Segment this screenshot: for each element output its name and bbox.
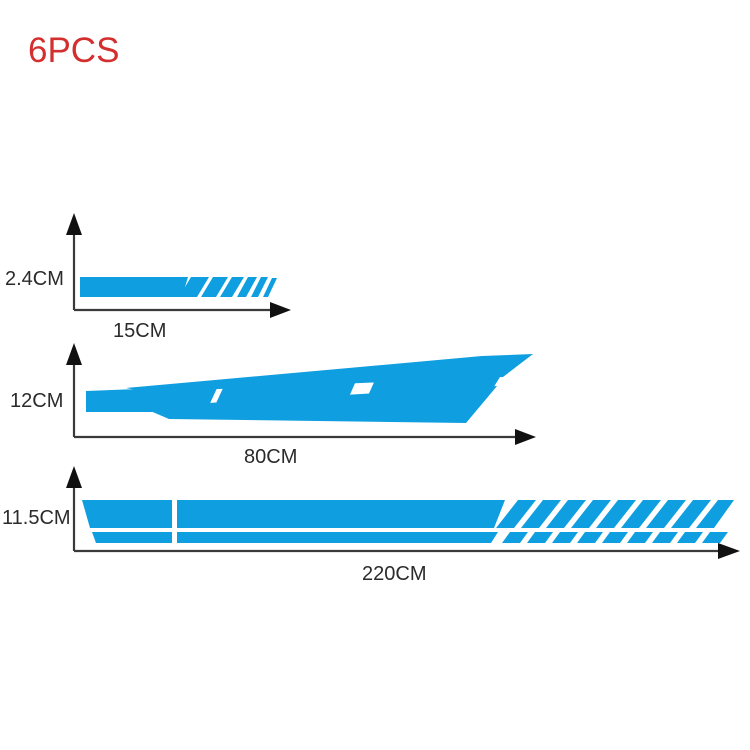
- vertical-axis-medium: [66, 343, 82, 437]
- diagram-small-stripe: 2.4CM 15CM: [5, 213, 291, 342]
- height-label-long: 11.5CM: [2, 507, 71, 529]
- length-label-medium: 80CM: [244, 446, 297, 468]
- slash-group-upper: [496, 500, 734, 528]
- diagram-canvas: 2.4CM 15CM: [0, 0, 750, 750]
- length-label-small: 15CM: [113, 320, 166, 342]
- horizontal-axis-small: [74, 302, 291, 318]
- height-label-medium: 12CM: [10, 390, 63, 412]
- diagram-long-stripe: 11.5CM 220CM: [2, 466, 740, 585]
- product-size-diagram-page: 6PCS: [0, 0, 750, 750]
- diagram-medium-stripe: 12CM 80CM: [10, 343, 536, 468]
- vertical-axis-long: [66, 466, 82, 551]
- length-label-long: 220CM: [362, 563, 426, 585]
- stripe-shape-long: [82, 500, 734, 543]
- stripe-shape-small: [80, 277, 277, 297]
- page-title: 6PCS: [28, 33, 119, 68]
- vertical-axis-small: [66, 213, 82, 310]
- stripe-shape-medium: [86, 354, 533, 423]
- slash-group-lower: [502, 532, 728, 543]
- height-label-small: 2.4CM: [5, 268, 64, 290]
- horizontal-axis-long: [74, 543, 740, 559]
- horizontal-axis-medium: [74, 429, 536, 445]
